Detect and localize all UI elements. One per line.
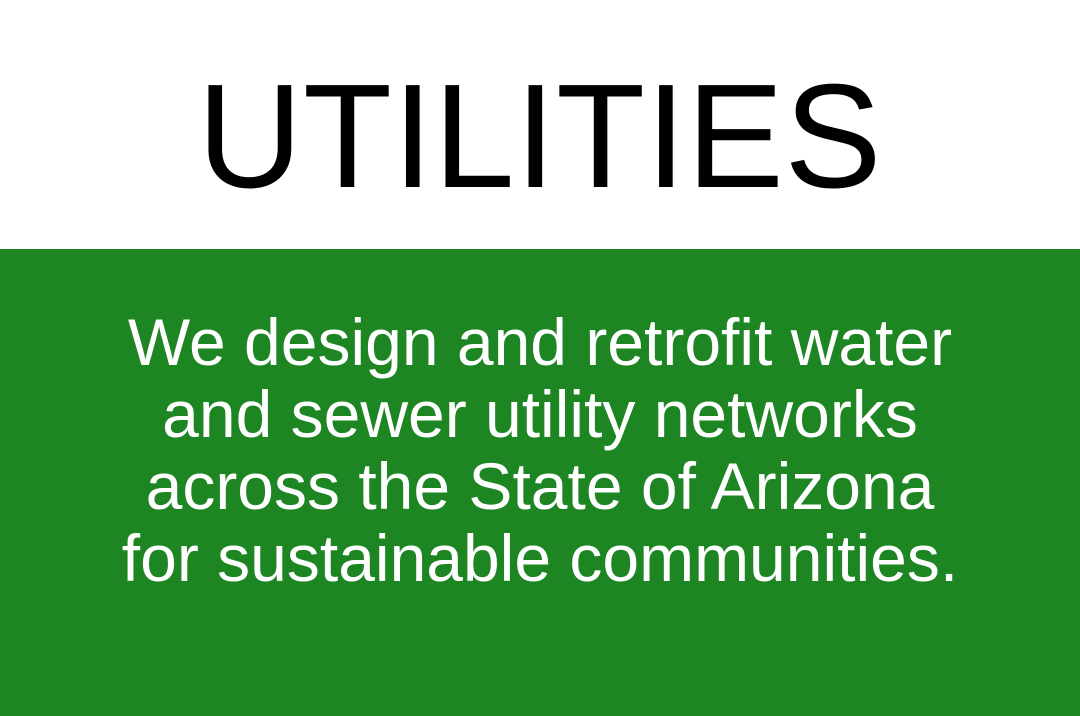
description-line-3: across the State of Arizona — [110, 450, 970, 522]
description-line-4: for sustainable communities. — [110, 522, 970, 594]
description-text: We design and retrofit water and sewer u… — [110, 306, 970, 594]
description-band: We design and retrofit water and sewer u… — [0, 249, 1080, 716]
description-line-2: and sewer utility networks — [110, 378, 970, 450]
description-line-1: We design and retrofit water — [110, 306, 970, 378]
title-band: UTILITIES — [0, 0, 1080, 249]
page-title: UTILITIES — [198, 63, 883, 249]
utilities-banner: UTILITIES We design and retrofit water a… — [0, 0, 1080, 716]
